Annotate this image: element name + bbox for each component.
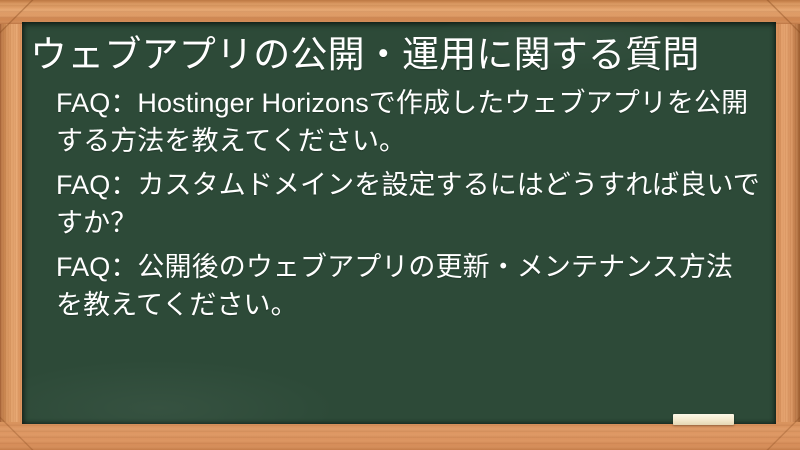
frame-bottom-rail <box>0 422 800 450</box>
frame-top-rail <box>0 0 800 24</box>
page-title: ウェブアプリの公開・運用に関する質問 <box>30 32 760 78</box>
blackboard-slide: ウェブアプリの公開・運用に関する質問 FAQ：Hostinger Horizon… <box>0 0 800 450</box>
list-item: FAQ：カスタムドメインを設定するにはどうすれば良いですか？ <box>56 166 760 242</box>
chalk-stick-icon <box>673 414 734 425</box>
chalkboard-surface: ウェブアプリの公開・運用に関する質問 FAQ：Hostinger Horizon… <box>22 22 776 424</box>
list-item: FAQ：Hostinger Horizonsで作成したウェブアプリを公開する方法… <box>56 84 760 160</box>
chalkboard-content: ウェブアプリの公開・運用に関する質問 FAQ：Hostinger Horizon… <box>22 22 776 324</box>
list-item: FAQ：公開後のウェブアプリの更新・メンテナンス方法を教えてください。 <box>56 248 760 324</box>
faq-list: FAQ：Hostinger Horizonsで作成したウェブアプリを公開する方法… <box>30 84 760 324</box>
